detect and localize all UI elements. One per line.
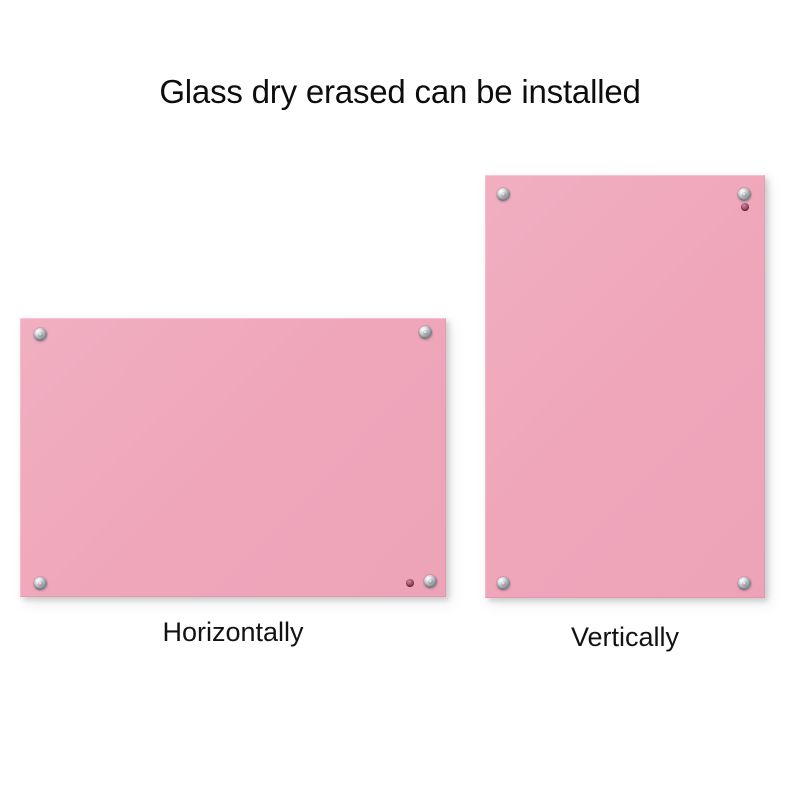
page-title: Glass dry erased can be installed [0, 72, 800, 112]
caption-horizontally: Horizontally [20, 616, 446, 648]
standoff-bottom-right [424, 575, 437, 588]
board-group-horizontal [20, 318, 446, 597]
standoff-top-right [419, 326, 432, 339]
accent-screw-top-right [741, 203, 749, 211]
accent-screw-bottom-right [406, 579, 414, 587]
standoff-top-left [497, 188, 510, 201]
board-group-vertical [485, 175, 765, 598]
standoff-top-right [738, 188, 751, 201]
glass-board-horizontal[interactable] [20, 318, 446, 597]
product-illustration-canvas: Glass dry erased can be installed Horizo… [0, 0, 800, 800]
standoff-top-left [34, 328, 47, 341]
standoff-bottom-right [738, 577, 751, 590]
caption-vertically: Vertically [485, 621, 765, 653]
standoff-bottom-left [34, 577, 47, 590]
standoff-bottom-left [497, 577, 510, 590]
glass-board-vertical[interactable] [485, 175, 765, 598]
